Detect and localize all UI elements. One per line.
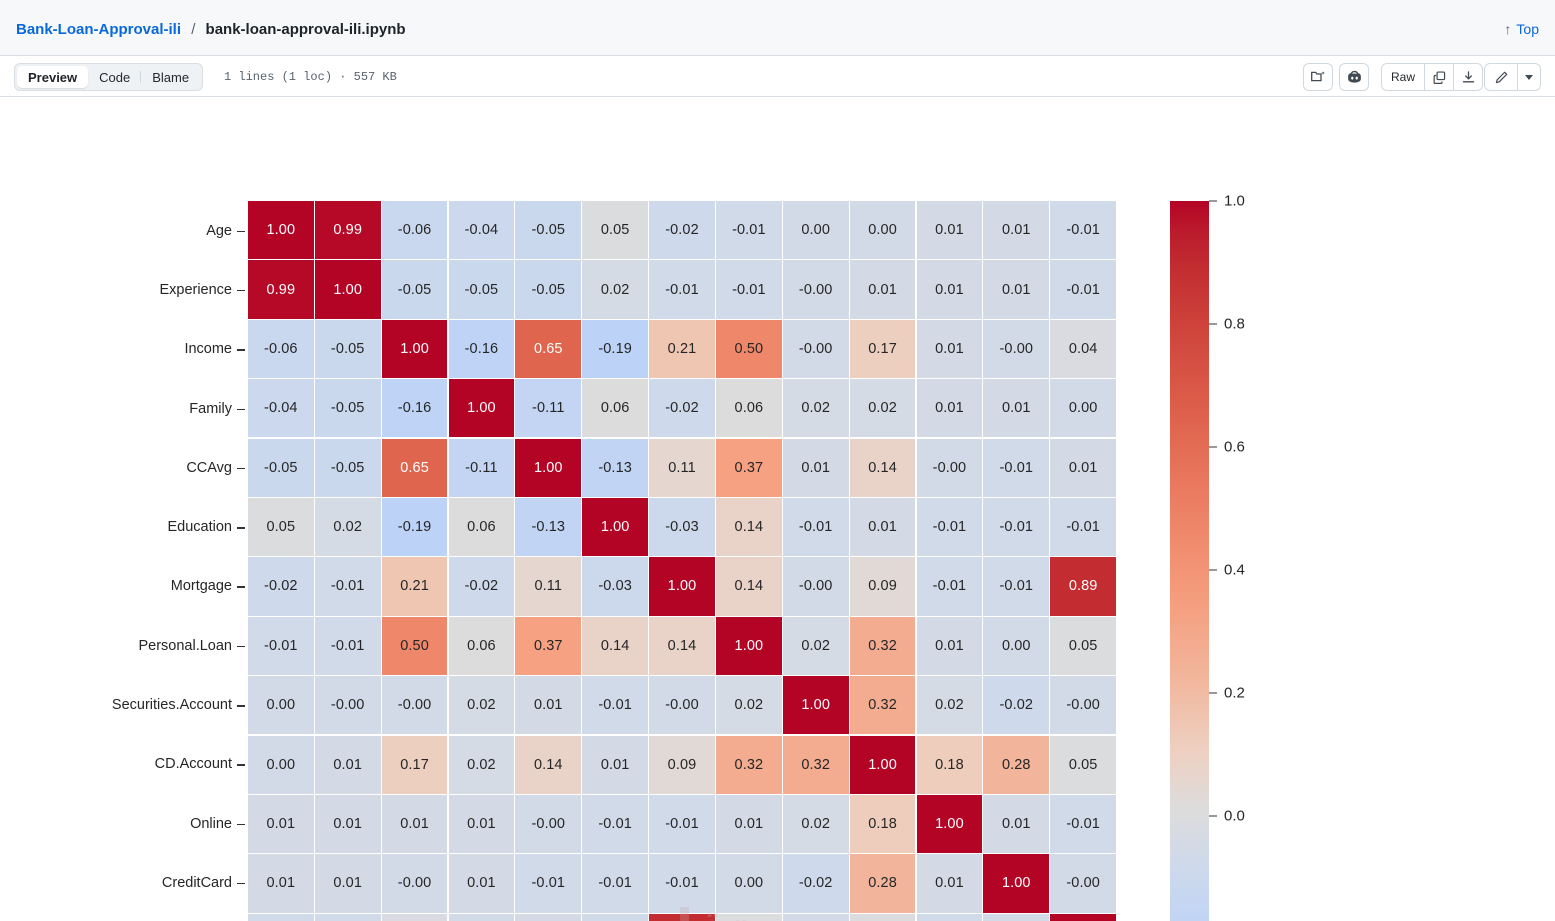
colorbar-tick-label: 0.6 <box>1224 439 1245 456</box>
heatmap-cell: 0.37 <box>716 439 782 497</box>
heatmap-cell: 1.00 <box>582 498 648 556</box>
tab-preview[interactable]: Preview <box>17 66 88 88</box>
heatmap-cell: 0.14 <box>716 557 782 615</box>
copilot-action-group <box>1331 63 1369 91</box>
heatmap-cell: 1.00 <box>315 260 381 318</box>
heatmap-cell: 0.06 <box>449 617 515 675</box>
heatmap-cell: 0.02 <box>582 260 648 318</box>
heatmap-cell: 0.02 <box>315 498 381 556</box>
heatmap-cell: -0.00 <box>783 260 849 318</box>
heatmap-cell: -0.05 <box>315 379 381 437</box>
heatmap-cell: 0.37 <box>515 617 581 675</box>
heatmap-cell: 0.17 <box>382 736 448 794</box>
file-meta-text: 1 lines (1 loc) · 557 KB <box>224 70 397 84</box>
y-axis-tick-label: Securities.Account <box>0 675 248 734</box>
heatmap-cell: -0.05 <box>449 260 515 318</box>
workspace-action-group <box>1295 63 1333 91</box>
heatmap-cell: 0.01 <box>1050 439 1116 497</box>
heatmap-cell: -0.01 <box>582 914 648 921</box>
heatmap-cell: -0.00 <box>382 676 448 734</box>
heatmap-cell: 0.06 <box>449 498 515 556</box>
heatmap-cell: 0.01 <box>248 795 314 853</box>
heatmap-cell: -0.01 <box>917 498 983 556</box>
heatmap-cell: -0.01 <box>983 498 1049 556</box>
heatmap-cell: 1.00 <box>515 439 581 497</box>
heatmap-cell: -0.03 <box>649 498 715 556</box>
back-to-top-link[interactable]: ↑ Top <box>1504 20 1539 39</box>
heatmap-cell: 0.00 <box>850 201 916 259</box>
heatmap-cell: -0.01 <box>582 854 648 912</box>
heatmap-cell: -0.19 <box>382 498 448 556</box>
heatmap-cell: 0.14 <box>850 439 916 497</box>
correlation-heatmap-figure: AgeExperienceIncomeFamilyCCAvgEducationM… <box>0 97 1555 921</box>
heatmap-cell: 0.11 <box>649 439 715 497</box>
colorbar-tick: 0.2 <box>1209 685 1245 702</box>
colorbar-tick-label: 0.8 <box>1224 316 1245 333</box>
colorbar-tick: 1.0 <box>1209 193 1245 210</box>
raw-button[interactable]: Raw <box>1381 63 1425 91</box>
heatmap-cell: 0.01 <box>248 854 314 912</box>
heatmap-cell: 0.09 <box>649 736 715 794</box>
heatmap-cell: -0.01 <box>1050 795 1116 853</box>
heatmap-cell: 0.05 <box>850 914 916 921</box>
notebook-preview-page: Bank-Loan-Approval-ili / bank-loan-appro… <box>0 0 1555 921</box>
heatmap-cell: -0.02 <box>449 557 515 615</box>
heatmap-cell: 0.99 <box>315 201 381 259</box>
colorbar-tick-mark <box>1209 569 1217 570</box>
colorbar-tick-label: 0.2 <box>1224 685 1245 702</box>
heatmap-cell: 0.89 <box>649 914 715 921</box>
colorbar-tick: 0.8 <box>1209 316 1245 333</box>
heatmap-cell: -0.05 <box>515 201 581 259</box>
heatmap-cell: 0.02 <box>783 617 849 675</box>
heatmap-cell: 0.32 <box>850 617 916 675</box>
heatmap-cell: 0.02 <box>449 676 515 734</box>
view-mode-segmented-control: Preview Code Blame <box>14 63 203 91</box>
heatmap-cell: 0.05 <box>1050 736 1116 794</box>
heatmap-cell: -0.00 <box>315 676 381 734</box>
heatmap-cell: 1.00 <box>649 557 715 615</box>
breadcrumb-filename: bank-loan-approval-ili.ipynb <box>206 21 406 38</box>
heatmap-cell: 0.14 <box>716 498 782 556</box>
heatmap-cell: 0.01 <box>917 201 983 259</box>
colorbar-tick: 0.0 <box>1209 808 1245 825</box>
heatmap-cell: 0.09 <box>850 557 916 615</box>
heatmap-cell: 0.01 <box>917 379 983 437</box>
heatmap-cell: -0.11 <box>449 439 515 497</box>
heatmap-cell: -0.06 <box>382 201 448 259</box>
file-toolbar: Preview Code Blame 1 lines (1 loc) · 557… <box>0 56 1555 97</box>
heatmap-cell: -0.01 <box>315 914 381 921</box>
heatmap-cell: 0.50 <box>382 617 448 675</box>
heatmap-cell: 1.00 <box>382 320 448 378</box>
heatmap-cell: 0.28 <box>850 854 916 912</box>
heatmap-cell: 0.01 <box>515 914 581 921</box>
heatmap-cell: 0.01 <box>917 320 983 378</box>
heatmap-cell: -0.01 <box>649 854 715 912</box>
heatmap-cell: 0.01 <box>917 854 983 912</box>
heatmap-cell: -0.04 <box>248 379 314 437</box>
heatmap-cell: -0.01 <box>983 439 1049 497</box>
repo-header-bar: Bank-Loan-Approval-ili / bank-loan-appro… <box>0 0 1555 56</box>
heatmap-cell: 1.00 <box>983 854 1049 912</box>
heatmap-cell: 0.01 <box>917 260 983 318</box>
heatmap-cell: 0.05 <box>582 201 648 259</box>
arrow-up-icon: ↑ <box>1504 20 1511 39</box>
heatmap-cell: 0.01 <box>983 260 1049 318</box>
heatmap-cell: 0.21 <box>382 557 448 615</box>
heatmap-cell: 0.00 <box>248 676 314 734</box>
heatmap-cell: 0.01 <box>315 795 381 853</box>
raw-copy-download-group: Raw <box>1381 63 1483 91</box>
y-axis-tick-label: log_Mortgage <box>0 913 248 921</box>
heatmap-cell: 0.05 <box>1050 617 1116 675</box>
heatmap-cell: -0.01 <box>1050 498 1116 556</box>
heatmap-cell: -0.02 <box>649 379 715 437</box>
heatmap-cell: -0.01 <box>917 557 983 615</box>
heatmap-cell: 0.01 <box>382 795 448 853</box>
y-axis-tick-label: CCAvg <box>0 438 248 497</box>
heatmap-colorbar: 1.00.80.60.40.20.0 <box>1170 201 1290 921</box>
heatmap-cell: 0.89 <box>1050 557 1116 615</box>
colorbar-tick-label: 0.0 <box>1224 808 1245 825</box>
heatmap-y-axis-labels: AgeExperienceIncomeFamilyCCAvgEducationM… <box>0 201 248 921</box>
heatmap-cell: -0.01 <box>716 201 782 259</box>
heatmap-cell: 0.50 <box>716 320 782 378</box>
heatmap-cell: 0.02 <box>783 795 849 853</box>
heatmap-cell: -0.01 <box>248 617 314 675</box>
heatmap-grid: 1.000.99-0.06-0.04-0.050.05-0.02-0.010.0… <box>248 201 1116 921</box>
heatmap-cell: -0.01 <box>649 260 715 318</box>
heatmap-cell: -0.01 <box>315 557 381 615</box>
heatmap-cell: 0.28 <box>983 736 1049 794</box>
colorbar-tick-mark <box>1209 446 1217 447</box>
back-to-top-label: Top <box>1516 20 1539 39</box>
heatmap-cell: -0.01 <box>248 914 314 921</box>
heatmap-cell: 0.02 <box>716 676 782 734</box>
heatmap-cell: 0.00 <box>449 914 515 921</box>
heatmap-cell: -0.01 <box>917 914 983 921</box>
heatmap-cell: 0.65 <box>515 320 581 378</box>
heatmap-cell: 1.00 <box>917 795 983 853</box>
heatmap-cell: -0.01 <box>1050 201 1116 259</box>
heatmap-cell: -0.00 <box>1050 676 1116 734</box>
heatmap-cell: 0.00 <box>716 854 782 912</box>
heatmap-cell: -0.01 <box>582 795 648 853</box>
heatmap-cell: 0.11 <box>515 557 581 615</box>
heatmap-cell: -0.05 <box>315 320 381 378</box>
colorbar-tick-label: 0.4 <box>1224 562 1245 579</box>
heatmap-cell: -0.00 <box>783 320 849 378</box>
heatmap-cell: -0.00 <box>649 676 715 734</box>
heatmap-cell: -0.13 <box>515 498 581 556</box>
heatmap-cell: 0.00 <box>983 617 1049 675</box>
heatmap-cell: 0.32 <box>716 736 782 794</box>
breadcrumb-separator: / <box>191 21 195 38</box>
heatmap-cell: 0.02 <box>850 379 916 437</box>
y-axis-tick-label: Online <box>0 794 248 853</box>
heatmap-cell: -0.05 <box>382 260 448 318</box>
colorbar-tick: 0.4 <box>1209 562 1245 579</box>
colorbar-tick-mark <box>1209 692 1217 693</box>
heatmap-cell: 0.32 <box>783 736 849 794</box>
y-axis-tick-label: CD.Account <box>0 735 248 794</box>
y-axis-tick-label: Personal.Loan <box>0 616 248 675</box>
chevron-down-icon[interactable] <box>1517 63 1541 91</box>
breadcrumb-repo-link[interactable]: Bank-Loan-Approval-ili <box>16 21 181 38</box>
y-axis-tick-label: Family <box>0 379 248 438</box>
heatmap-cell: 0.14 <box>649 617 715 675</box>
heatmap-cell: -0.16 <box>449 320 515 378</box>
heatmap-cell: -0.16 <box>382 379 448 437</box>
heatmap-cell: -0.01 <box>716 260 782 318</box>
heatmap-cell: -0.00 <box>983 914 1049 921</box>
y-axis-tick-label: CreditCard <box>0 853 248 912</box>
heatmap-cell: 0.01 <box>983 201 1049 259</box>
heatmap-cell: 1.00 <box>248 201 314 259</box>
heatmap-cell: -0.01 <box>649 795 715 853</box>
heatmap-cell: -0.01 <box>783 498 849 556</box>
heatmap-cell: -0.04 <box>449 201 515 259</box>
y-axis-tick-label: Education <box>0 498 248 557</box>
colorbar-tick-mark <box>1209 323 1217 324</box>
heatmap-cell: 0.99 <box>248 260 314 318</box>
heatmap-cell: -0.00 <box>983 320 1049 378</box>
copy-icon[interactable] <box>1424 63 1454 91</box>
colorbar-tick-mark <box>1209 200 1217 201</box>
heatmap-cell: -0.06 <box>248 320 314 378</box>
heatmap-cell: -0.02 <box>649 201 715 259</box>
heatmap-cell: 0.01 <box>582 736 648 794</box>
heatmap-cell: 0.01 <box>515 676 581 734</box>
heatmap-cell: -0.01 <box>582 676 648 734</box>
edit-menu-group <box>1484 63 1541 91</box>
heatmap-cell: -0.01 <box>315 617 381 675</box>
heatmap-cell: -0.00 <box>515 795 581 853</box>
y-axis-tick-label: Income <box>0 320 248 379</box>
copilot-icon[interactable] <box>1339 63 1369 91</box>
heatmap-cell: -0.13 <box>582 439 648 497</box>
colorbar-tick-mark <box>1209 815 1217 816</box>
y-axis-tick-label: Mortgage <box>0 557 248 616</box>
heatmap-cell: 0.18 <box>850 795 916 853</box>
heatmap-cell: 0.06 <box>716 379 782 437</box>
heatmap-cell: 0.01 <box>449 795 515 853</box>
heatmap-cell: 0.05 <box>716 914 782 921</box>
heatmap-cell: 0.00 <box>248 736 314 794</box>
download-icon[interactable] <box>1453 63 1483 91</box>
heatmap-cell: -0.05 <box>515 260 581 318</box>
heatmap-cell: 0.32 <box>850 676 916 734</box>
heatmap-cell: 0.01 <box>983 795 1049 853</box>
heatmap-cell: 1.00 <box>449 379 515 437</box>
heatmap-cell: 0.06 <box>582 379 648 437</box>
heatmap-cell: 0.02 <box>449 736 515 794</box>
heatmap-cell: -0.02 <box>248 557 314 615</box>
y-axis-tick-label: Experience <box>0 260 248 319</box>
heatmap-cell: -0.02 <box>983 676 1049 734</box>
heatmap-cell: 0.14 <box>515 736 581 794</box>
heatmap-cell: 0.02 <box>917 676 983 734</box>
heatmap-cell: 0.04 <box>1050 320 1116 378</box>
heatmap-cell: -0.00 <box>783 914 849 921</box>
heatmap-cell: -0.01 <box>983 557 1049 615</box>
heatmap-cell: -0.19 <box>582 320 648 378</box>
pencil-icon[interactable] <box>1484 63 1518 91</box>
heatmap-cell: 0.65 <box>382 439 448 497</box>
heatmap-cell: 0.02 <box>783 379 849 437</box>
heatmap-cell: -0.05 <box>315 439 381 497</box>
colorbar-tick-label: 1.0 <box>1224 193 1245 210</box>
heatmap-cell: -0.02 <box>783 854 849 912</box>
folder-sparkle-icon[interactable] <box>1303 63 1333 91</box>
heatmap-cell: -0.00 <box>783 557 849 615</box>
heatmap-cell: 0.01 <box>783 439 849 497</box>
colorbar-gradient <box>1170 201 1209 921</box>
heatmap-cell: 0.04 <box>382 914 448 921</box>
heatmap-cell: 0.01 <box>315 854 381 912</box>
heatmap-cell: 0.01 <box>315 736 381 794</box>
heatmap-cell: 0.05 <box>248 498 314 556</box>
heatmap-cell: -0.05 <box>248 439 314 497</box>
y-axis-tick-label: Age <box>0 201 248 260</box>
colorbar-tick: 0.6 <box>1209 439 1245 456</box>
heatmap-cell: 0.18 <box>917 736 983 794</box>
heatmap-cell: -0.00 <box>1050 854 1116 912</box>
heatmap-cell: -0.11 <box>515 379 581 437</box>
heatmap-cell: 1.00 <box>783 676 849 734</box>
heatmap-cell: 1.00 <box>850 736 916 794</box>
breadcrumb: Bank-Loan-Approval-ili / bank-loan-appro… <box>16 20 406 39</box>
heatmap-cell: 1.00 <box>716 617 782 675</box>
heatmap-cell: 0.01 <box>983 379 1049 437</box>
heatmap-cell: 0.01 <box>917 617 983 675</box>
heatmap-cell: 0.21 <box>649 320 715 378</box>
heatmap-cell: 0.01 <box>850 260 916 318</box>
tab-code[interactable]: Code <box>88 66 141 88</box>
heatmap-cell: -0.00 <box>917 439 983 497</box>
heatmap-cell: 0.01 <box>449 854 515 912</box>
heatmap-cell: -0.01 <box>515 854 581 912</box>
heatmap-cell: 1.00 <box>1050 914 1116 921</box>
heatmap-cell: -0.03 <box>582 557 648 615</box>
heatmap-cell: 0.01 <box>850 498 916 556</box>
heatmap-cell: 0.17 <box>850 320 916 378</box>
heatmap-cell: 0.00 <box>783 201 849 259</box>
heatmap-cell: 0.14 <box>582 617 648 675</box>
heatmap-cell: 0.01 <box>716 795 782 853</box>
tab-blame[interactable]: Blame <box>141 66 200 88</box>
heatmap-cell: 0.00 <box>1050 379 1116 437</box>
heatmap-cell: -0.01 <box>1050 260 1116 318</box>
heatmap-cell: -0.00 <box>382 854 448 912</box>
